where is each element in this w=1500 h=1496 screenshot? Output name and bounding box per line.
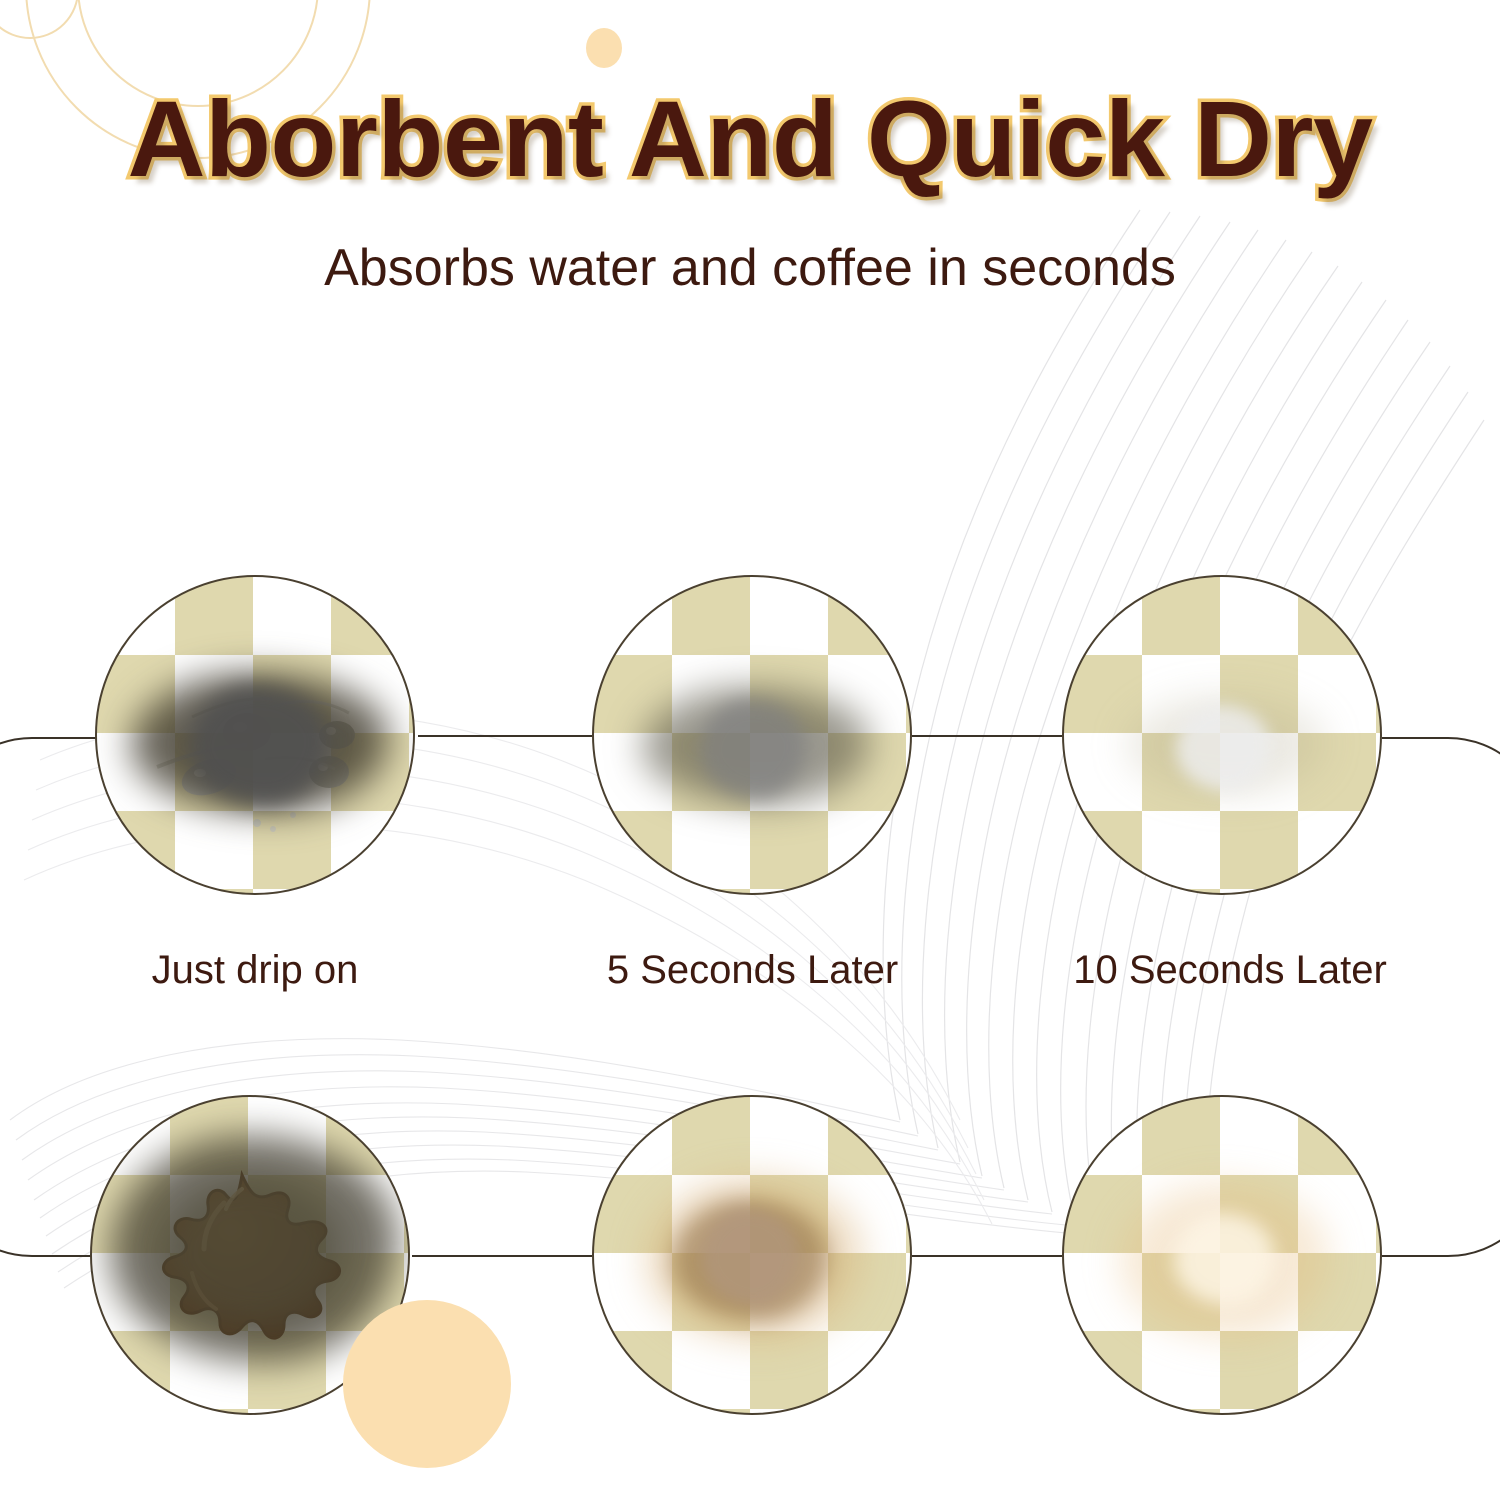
page-subtitle: Absorbs water and coffee in seconds xyxy=(0,238,1500,298)
stain-layer xyxy=(594,1097,912,1415)
stain-layer xyxy=(594,577,912,895)
sample-circle-coffee-10-seconds xyxy=(1062,1095,1382,1415)
step-label-1: Just drip on xyxy=(95,948,415,993)
wet-patch-core xyxy=(164,1181,340,1321)
sample-circle-water-just-dripped xyxy=(95,575,415,895)
stain-layer xyxy=(1064,577,1382,895)
infographic-page: Aborbent And Quick Dry Absorbs water and… xyxy=(0,0,1500,1496)
decorative-dot-top xyxy=(586,28,622,68)
sample-circle-water-10-seconds xyxy=(1062,575,1382,895)
sample-circle-water-5-seconds xyxy=(592,575,912,895)
sample-circle-coffee-5-seconds xyxy=(592,1095,912,1415)
stain-layer xyxy=(1064,1097,1382,1415)
page-title: Aborbent And Quick Dry xyxy=(0,82,1500,195)
decorative-dot-bottom xyxy=(343,1300,511,1468)
stain-layer xyxy=(97,577,415,895)
wet-patch-core xyxy=(189,685,329,805)
step-label-2: 5 Seconds Later xyxy=(580,948,925,993)
frame-outline-right xyxy=(1382,738,1500,1256)
coffee-stain-core xyxy=(702,1209,798,1305)
wet-patch-core xyxy=(700,699,806,799)
step-label-3: 10 Seconds Later xyxy=(1045,948,1415,993)
wet-patch-core xyxy=(1176,705,1270,791)
coffee-stain-core xyxy=(1174,1213,1274,1305)
